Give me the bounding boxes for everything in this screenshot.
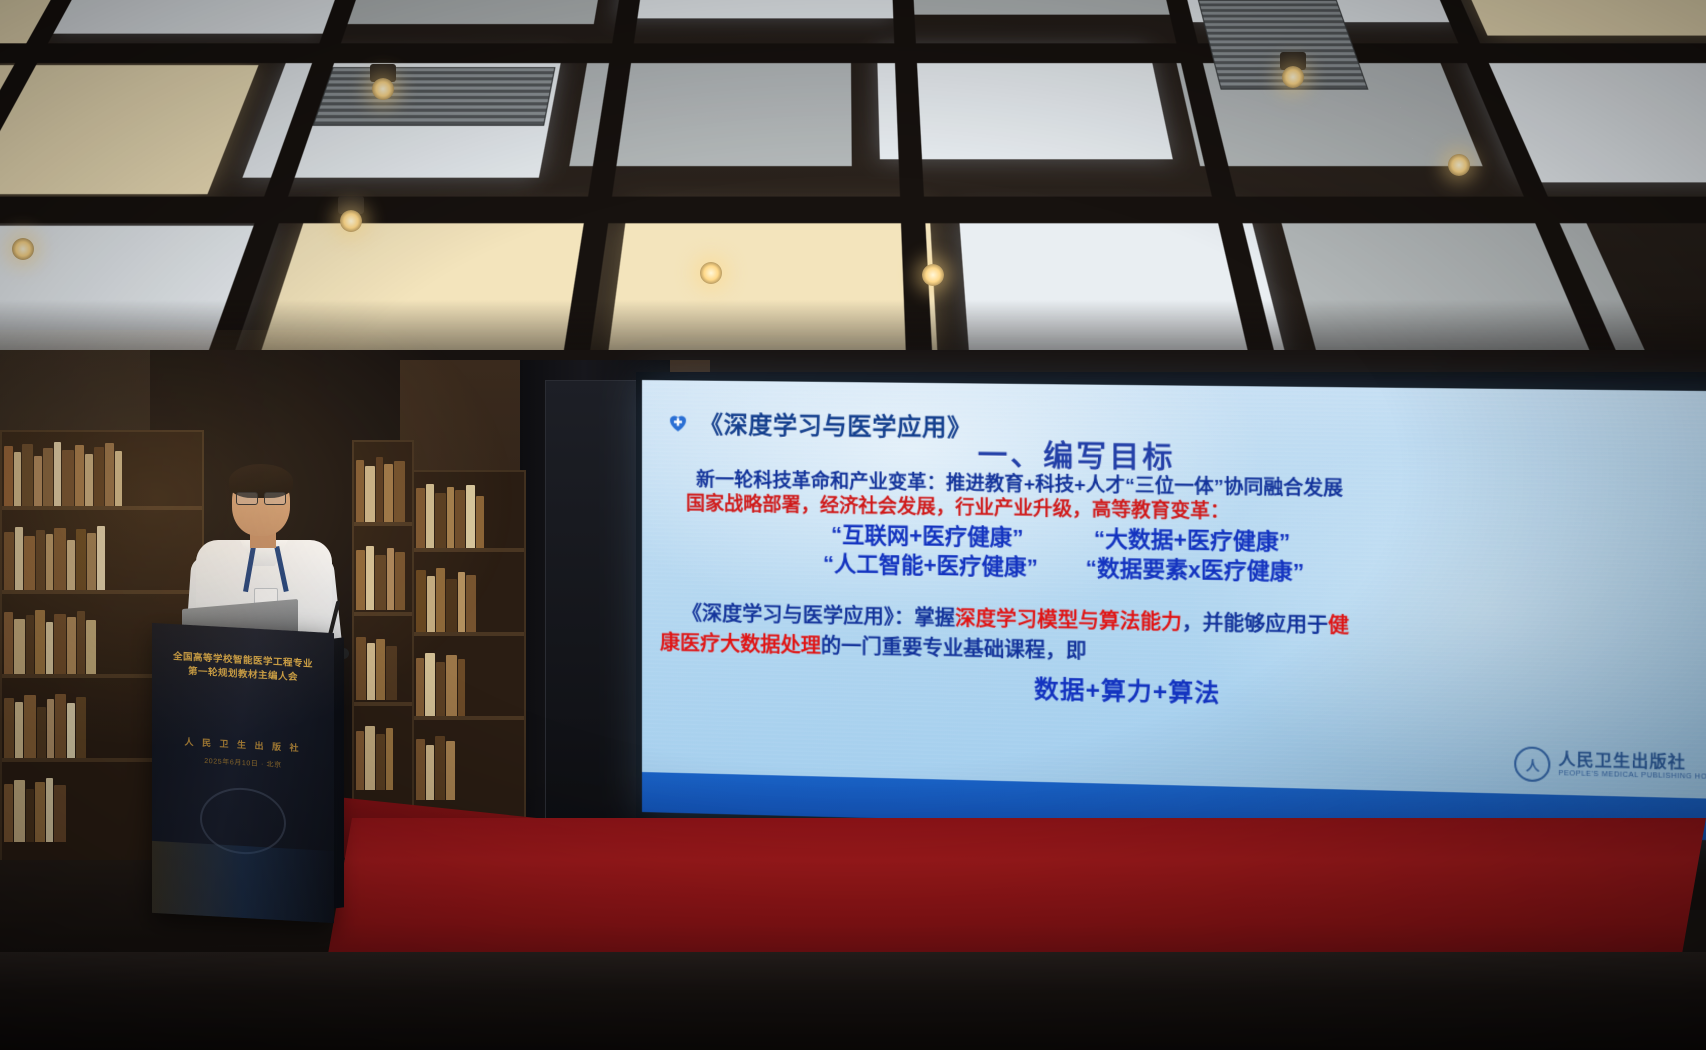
quote-ai-health: “人工智能+医疗健康” (823, 551, 1038, 580)
air-vent (312, 67, 555, 126)
paragraph-highlight-3: 康医疗大数据处理 (660, 632, 821, 657)
paragraph-middle: ，并能够应用于 (1182, 612, 1328, 637)
ceiling-spotlight (12, 238, 34, 260)
slide-section-title: 一、编写目标 (978, 432, 1176, 477)
ceiling-spotlight (340, 210, 362, 232)
stage-front-dark (0, 952, 1706, 1050)
slide-header: 《深度学习与医学应用》 (666, 404, 972, 443)
podium-color-stripe (152, 841, 334, 923)
paragraph-highlight-2: 健 (1328, 615, 1349, 638)
quote-bigdata-health: “大数据+医疗健康” (1094, 525, 1290, 554)
ceiling-spotlight (372, 78, 394, 100)
heart-medical-icon (666, 410, 690, 434)
quote-internet-health: “互联网+医疗健康” (831, 521, 1024, 549)
presentation-slide: 《深度学习与医学应用》 一、编写目标 新一轮科技革命和产业变革：推进教育+科技+… (642, 380, 1706, 841)
bookshelf-right (412, 470, 526, 854)
slide-paragraph: 《深度学习与医学应用》：掌握深度学习模型与算法能力，并能够应用于健 康医疗大数据… (682, 599, 1706, 724)
paragraph-prefix: 《深度学习与医学应用》：掌握 (682, 603, 955, 630)
slide-body-lines: 新一轮科技革命和产业变革：推进教育+科技+人才“三位一体”协同融合发展 国家战略… (672, 468, 1706, 593)
publisher-logo: 人 人民卫生出版社 PEOPLE'S MEDICAL PUBLISHING HO… (1515, 746, 1706, 786)
podium: 全国高等学校智能医学工程专业 第一轮规划教材主编人会 人 民 卫 生 出 版 社… (152, 623, 334, 923)
quote-dataelement-health: “数据要素x医疗健康” (1086, 555, 1305, 584)
photo-scene: 《深度学习与医学应用》 一、编写目标 新一轮科技革命和产业变革：推进教育+科技+… (0, 0, 1706, 1050)
speaker-glasses (236, 492, 286, 504)
podium-date-location: 2025年6月10日 · 北京 (160, 753, 326, 772)
projection-screen: 《深度学习与医学应用》 一、编写目标 新一轮科技革命和产业变革：推进教育+科技+… (642, 380, 1706, 841)
podium-publisher: 人 民 卫 生 出 版 社 (160, 733, 326, 755)
publisher-logo-mark: 人 (1515, 746, 1551, 782)
paragraph-highlight-1: 深度学习模型与算法能力 (955, 608, 1182, 635)
red-stage-platform (326, 818, 1706, 968)
bookshelf-center (352, 440, 414, 854)
ceiling-spotlight (922, 264, 944, 286)
ceiling (0, 0, 1706, 400)
paragraph-line2-rest: 的一门重要专业基础课程，即 (821, 636, 1087, 664)
ceiling-spotlight (1448, 154, 1470, 176)
ceiling-spotlight (700, 262, 722, 284)
podium-banner: 全国高等学校智能医学工程专业 第一轮规划教材主编人会 (160, 649, 326, 687)
slide-title: 《深度学习与医学应用》 (699, 405, 972, 443)
ceiling-spotlight (1282, 66, 1304, 88)
